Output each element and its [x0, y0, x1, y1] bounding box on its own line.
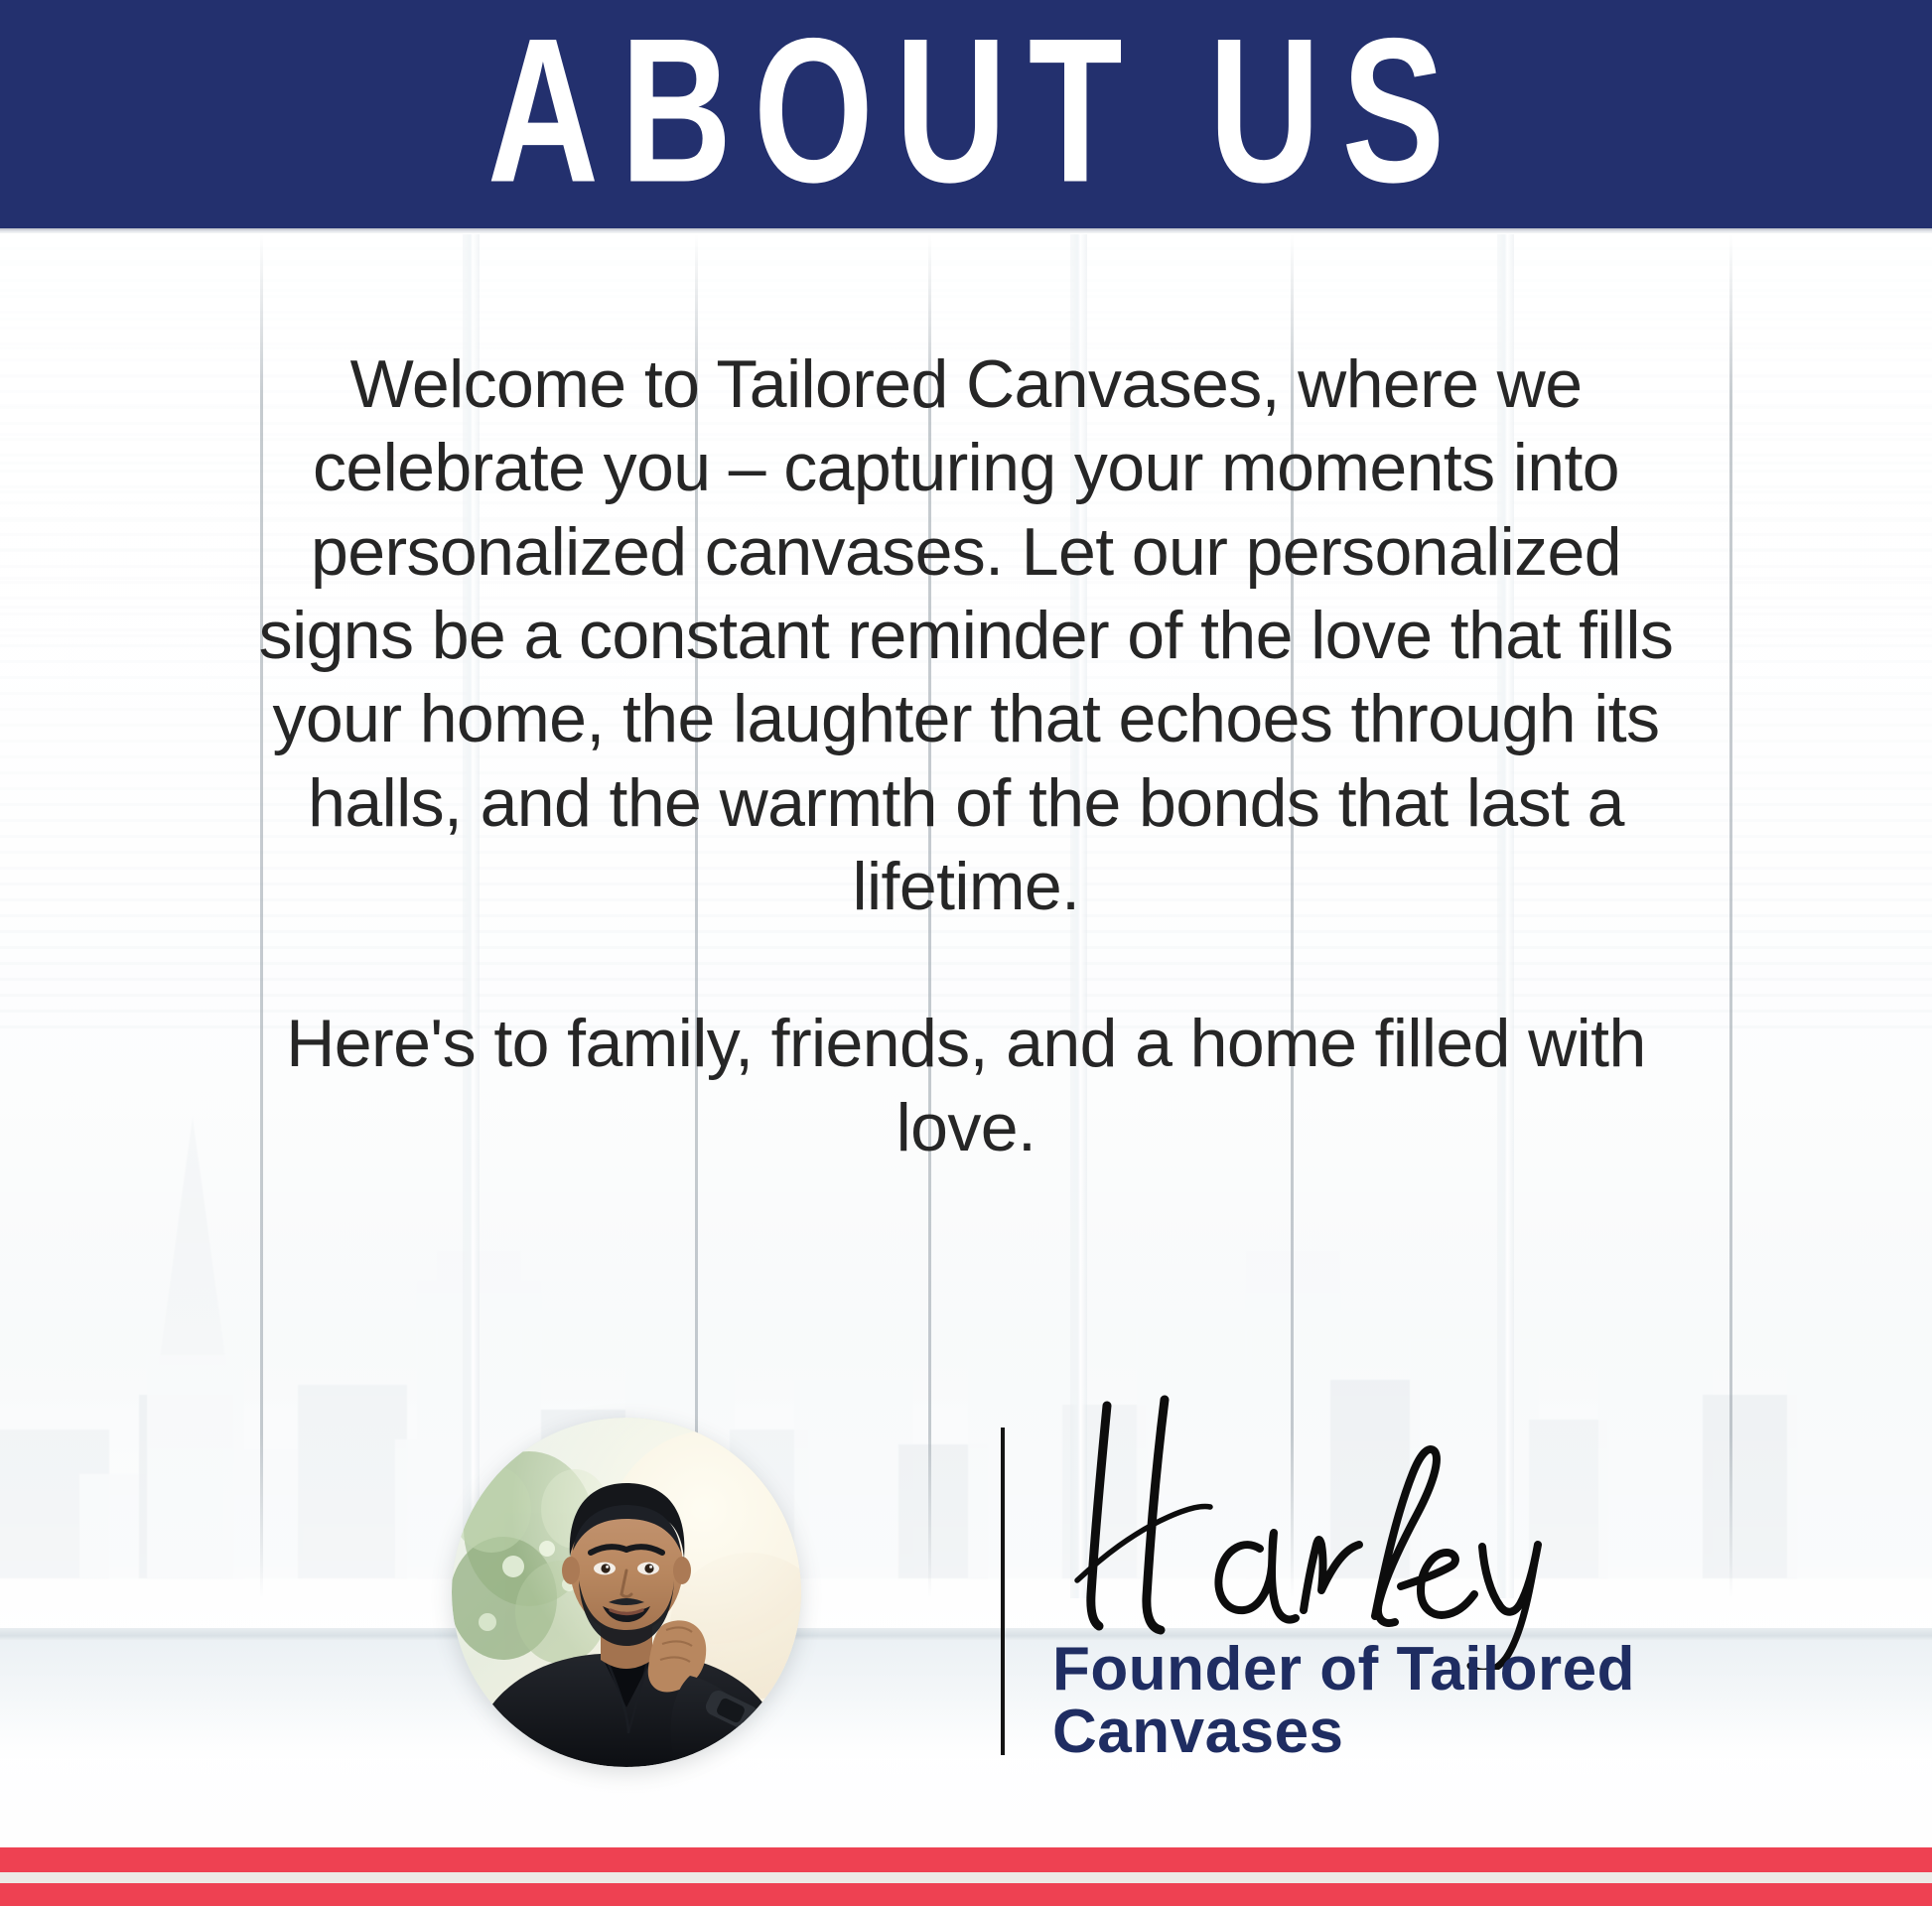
about-us-copy: Welcome to Tailored Canvases, where we c…	[256, 342, 1676, 1169]
avatar	[452, 1418, 801, 1767]
founder-role-line-1: Founder of Tailored	[1052, 1638, 1747, 1701]
about-paragraph-1: Welcome to Tailored Canvases, where we c…	[256, 342, 1676, 928]
founder-role-text: Founder of Tailored Canvases	[1052, 1638, 1747, 1763]
footer-stripe-bottom	[0, 1883, 1932, 1906]
signature-divider-line	[1001, 1428, 1005, 1755]
header-divider-rule	[0, 228, 1932, 233]
footer-stripe-gap	[0, 1872, 1932, 1883]
page-title: ABOUT US	[466, 17, 1466, 206]
about-paragraph-2: Here's to family, friends, and a home fi…	[256, 1002, 1676, 1169]
header-band: ABOUT US	[0, 0, 1932, 228]
footer-stripe-top	[0, 1847, 1932, 1872]
paragraph-spacer	[256, 928, 1676, 1002]
about-us-poster: ABOUT US Welcome to Tailored Canvases, w…	[0, 0, 1932, 1906]
founder-role-line-2: Canvases	[1052, 1701, 1747, 1763]
window-mullion	[1729, 234, 1732, 1598]
